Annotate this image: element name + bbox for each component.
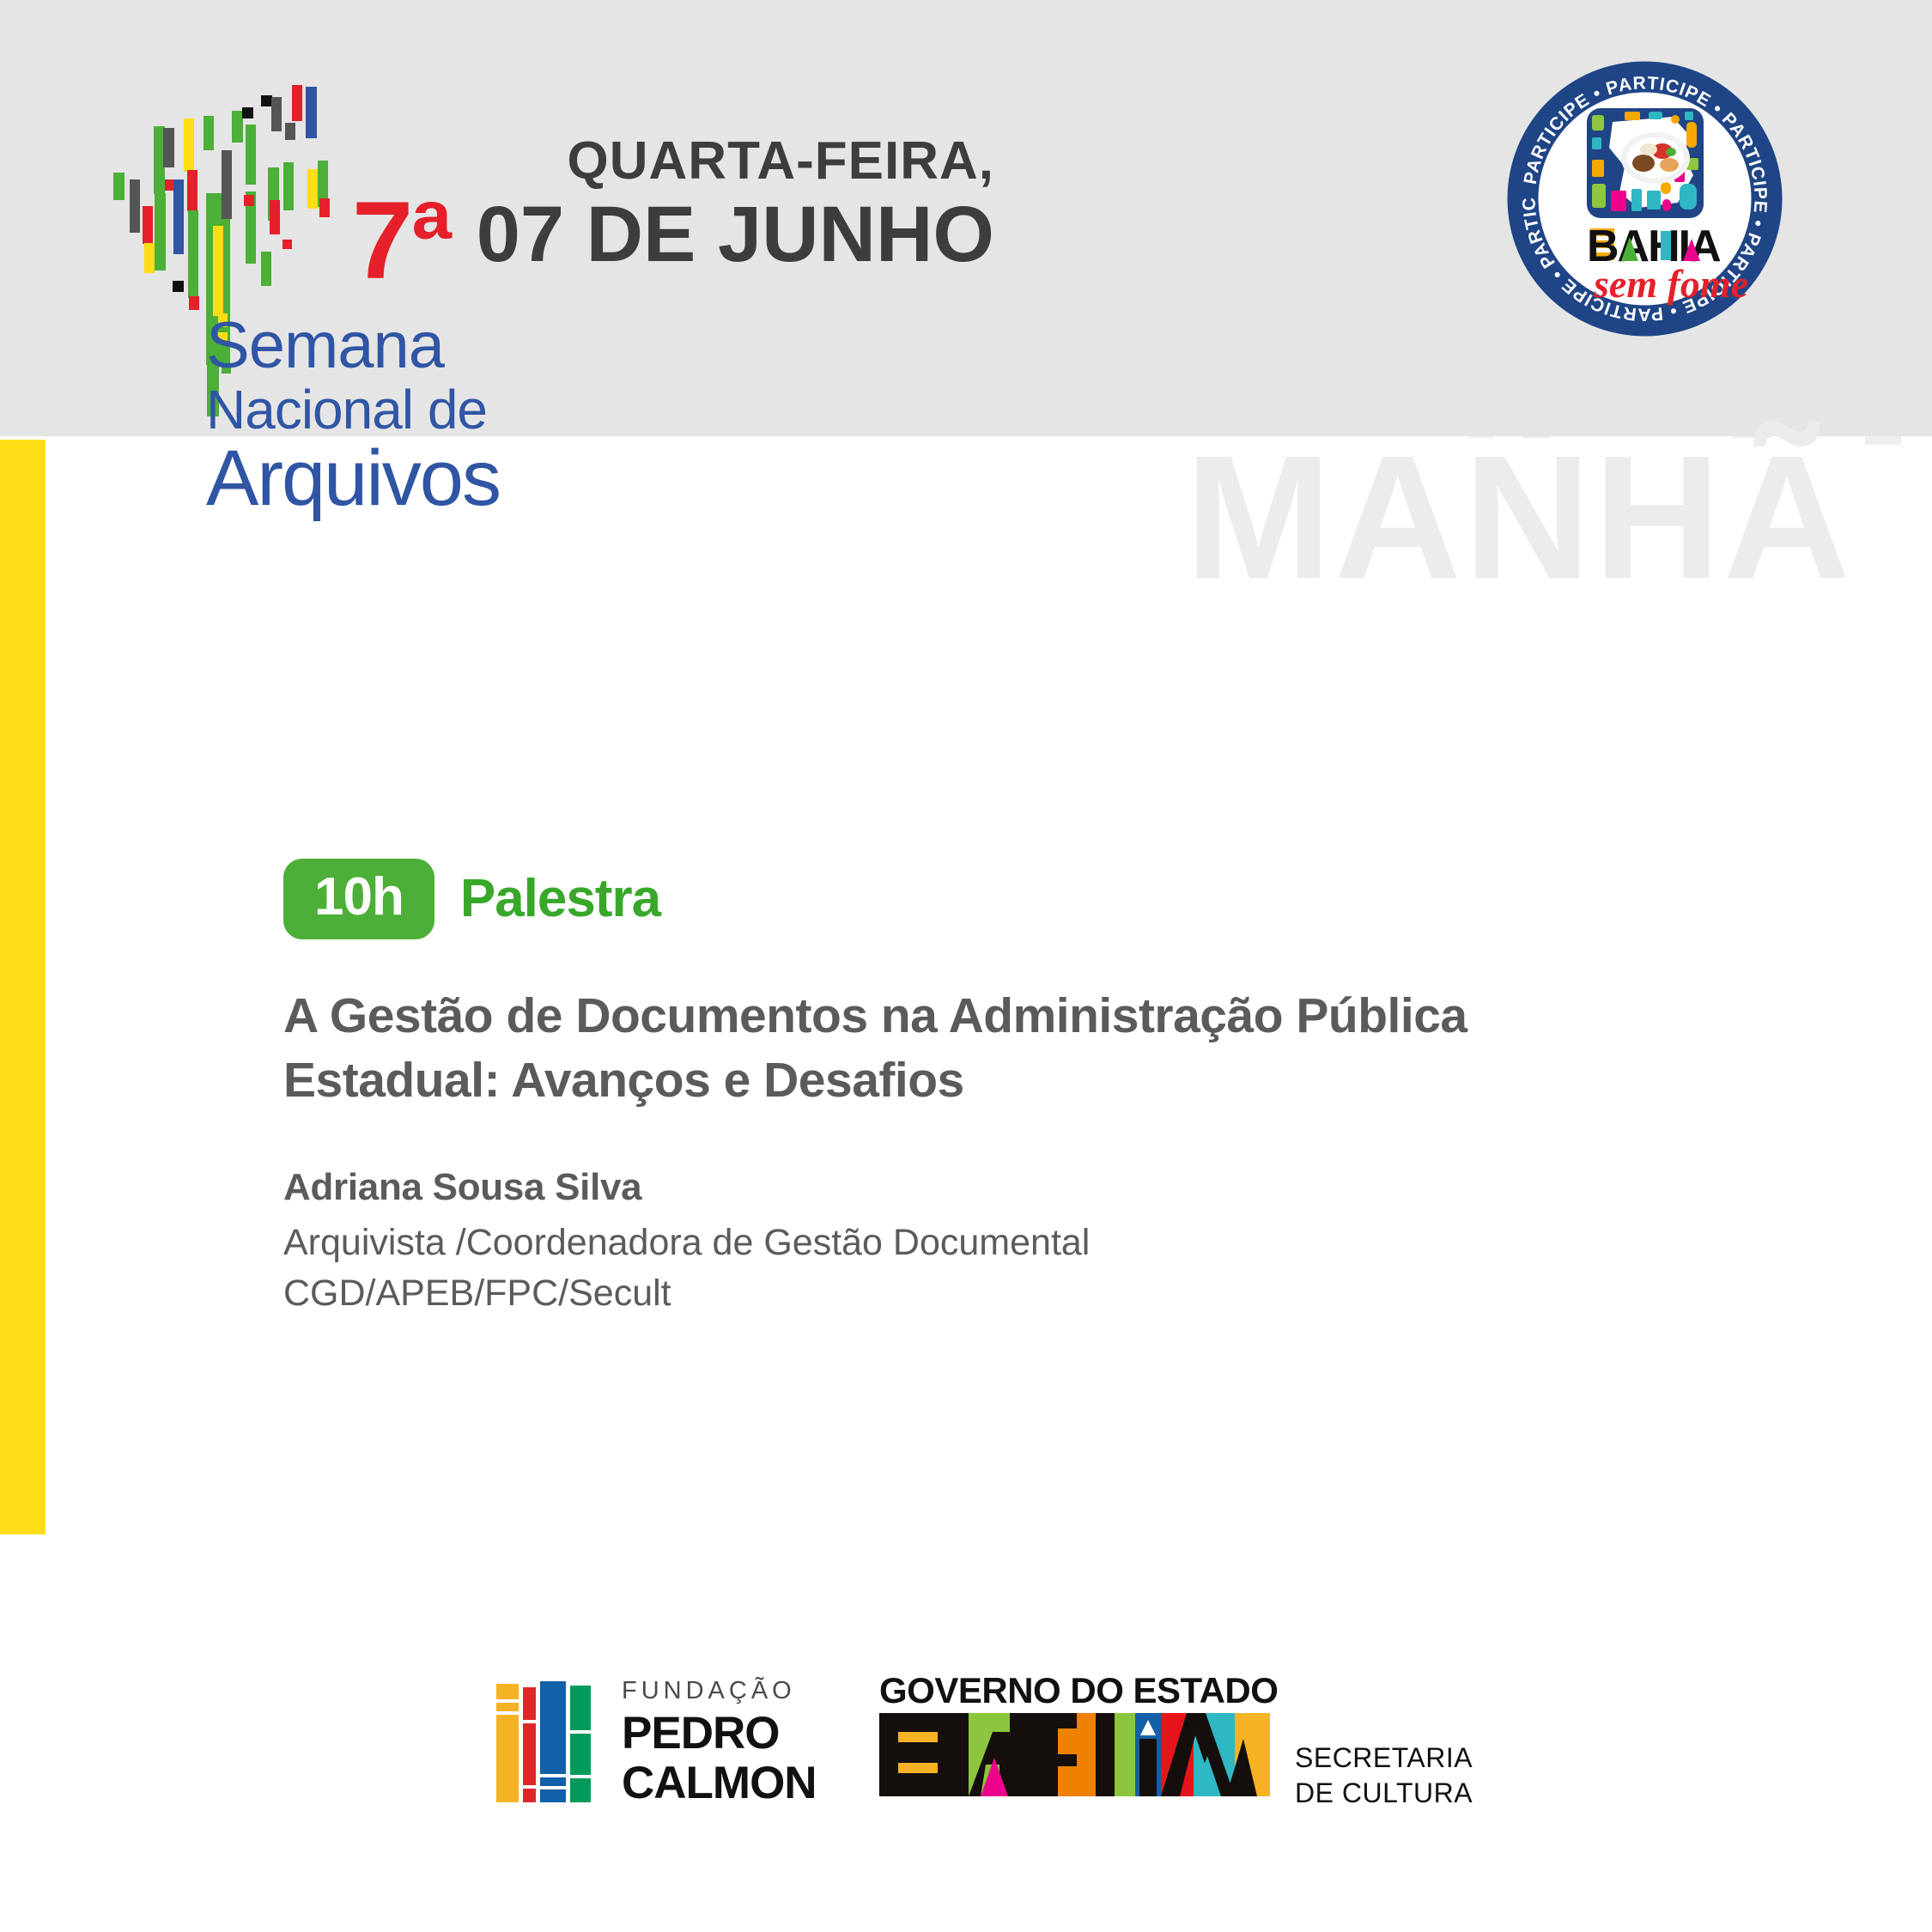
edition-number: 7ª <box>352 186 451 296</box>
session-header: 10h Palestra <box>283 859 1623 939</box>
footer-logos: FUNDAÇÃO PEDRO CALMON GOVERNO DO ESTADO <box>0 1631 1932 1855</box>
event-day: 07 DE JUNHO <box>445 192 994 277</box>
event-date: QUARTA-FEIRA, 07 DE JUNHO <box>445 133 994 277</box>
session-block: 10h Palestra A Gestão de Documentos na A… <box>283 859 1623 1318</box>
yellow-accent-rail <box>0 440 46 1534</box>
secretaria-line1: SECRETARIA <box>1295 1741 1473 1776</box>
speaker-name: Adriana Sousa Silva <box>283 1166 1623 1209</box>
fundacao-line2: CALMON <box>622 1760 817 1806</box>
speaker-role: Arquivista /Coordenadora de Gestão Docum… <box>283 1218 1623 1317</box>
bahia-sem-fome-seal-icon: PARTICIPE • PARTICIPE • PARTICIPE • PART… <box>1501 55 1789 343</box>
event-name-line3: Arquivos <box>206 439 500 518</box>
secretaria-line2: DE CULTURA <box>1295 1776 1473 1811</box>
books-icon <box>496 1679 599 1807</box>
governo-kicker: GOVERNO DO ESTADO <box>879 1673 1278 1709</box>
fundacao-line1: PEDRO <box>622 1710 817 1756</box>
event-poster: MANHÃ <box>0 0 1932 1932</box>
session-time-badge: 10h <box>283 859 434 939</box>
session-title: A Gestão de Documentos na Administração … <box>283 984 1503 1113</box>
governo-do-estado-logo: GOVERNO DO ESTADO <box>879 1673 1278 1796</box>
event-name: Semana Nacional de Arquivos <box>206 313 500 518</box>
secretaria-de-cultura-label: SECRETARIA DE CULTURA <box>1295 1741 1473 1811</box>
fundacao-kicker: FUNDAÇÃO <box>622 1679 817 1704</box>
fundacao-pedro-calmon-text: FUNDAÇÃO PEDRO CALMON <box>622 1679 817 1806</box>
event-weekday: QUARTA-FEIRA, <box>445 133 994 189</box>
bahia-wordmark-icon <box>879 1713 1270 1796</box>
event-name-line2: Nacional de <box>206 382 500 437</box>
session-type-label: Palestra <box>460 872 660 926</box>
svg-text:sem fome: sem fome <box>1593 262 1748 306</box>
period-watermark: MANHÃ <box>1185 429 1853 605</box>
speaker-role-line2: CGD/APEB/FPC/Secult <box>283 1268 1623 1318</box>
speaker-role-line1: Arquivista /Coordenadora de Gestão Docum… <box>283 1218 1623 1267</box>
fundacao-pedro-calmon-logo: FUNDAÇÃO PEDRO CALMON <box>496 1679 817 1807</box>
semana-nacional-arquivos-logo: 7ª Semana Nacional de Arquivos <box>101 90 496 416</box>
event-name-line1: Semana <box>206 313 500 379</box>
